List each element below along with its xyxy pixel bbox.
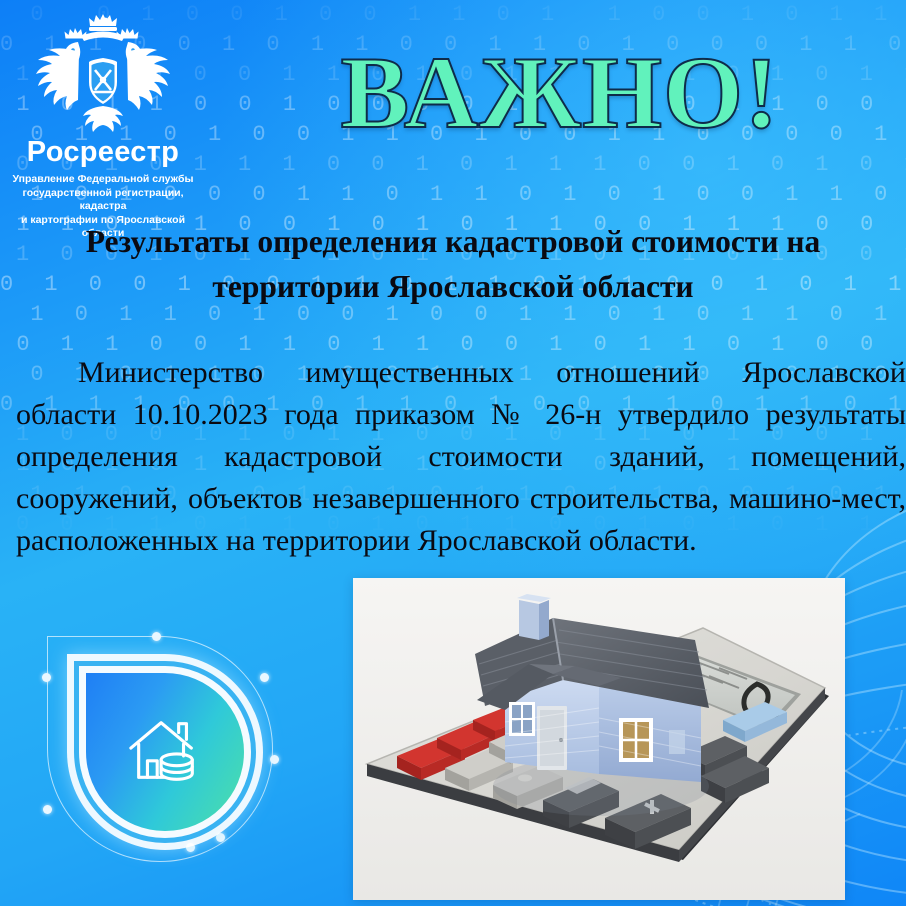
house-on-calculator-photo: [353, 578, 845, 900]
ring-dot-bottom-left: [43, 805, 52, 814]
ring-dot-right: [270, 755, 279, 764]
house-valuation-badge: [45, 632, 295, 882]
house-with-coins-icon: [126, 713, 204, 791]
house-on-calculator-illustration: [353, 578, 845, 900]
poster-root: 1 0 0 1 0 0 1 0 0 1 1 0 1 1 0 0 1 0 1 1 …: [0, 0, 906, 906]
body-paragraph: Министерство имущественных отношений Яро…: [8, 352, 906, 562]
ring-dot-left: [42, 673, 51, 682]
ring-dot-upper-right: [260, 673, 269, 682]
brand-name: Росреестр: [8, 136, 198, 169]
page-title-line-1: Результаты определения кадастровой стоим…: [22, 219, 884, 264]
double-headed-eagle-emblem-icon: [33, 8, 173, 140]
badge-face: [86, 673, 244, 831]
important-banner-text: ВАЖНО!: [275, 38, 845, 148]
page-title-line-2: территории Ярославской области: [22, 264, 884, 309]
page-title: Результаты определения кадастровой стоим…: [22, 219, 884, 309]
brand-subtitle-line-1: Управление Федеральной службы: [12, 173, 194, 187]
brand-block: Росреестр Управление Федеральной службы …: [8, 8, 198, 241]
ring-dot-top: [152, 632, 161, 641]
brand-subtitle-line-2: государственной регистрации, кадастра: [12, 187, 194, 214]
